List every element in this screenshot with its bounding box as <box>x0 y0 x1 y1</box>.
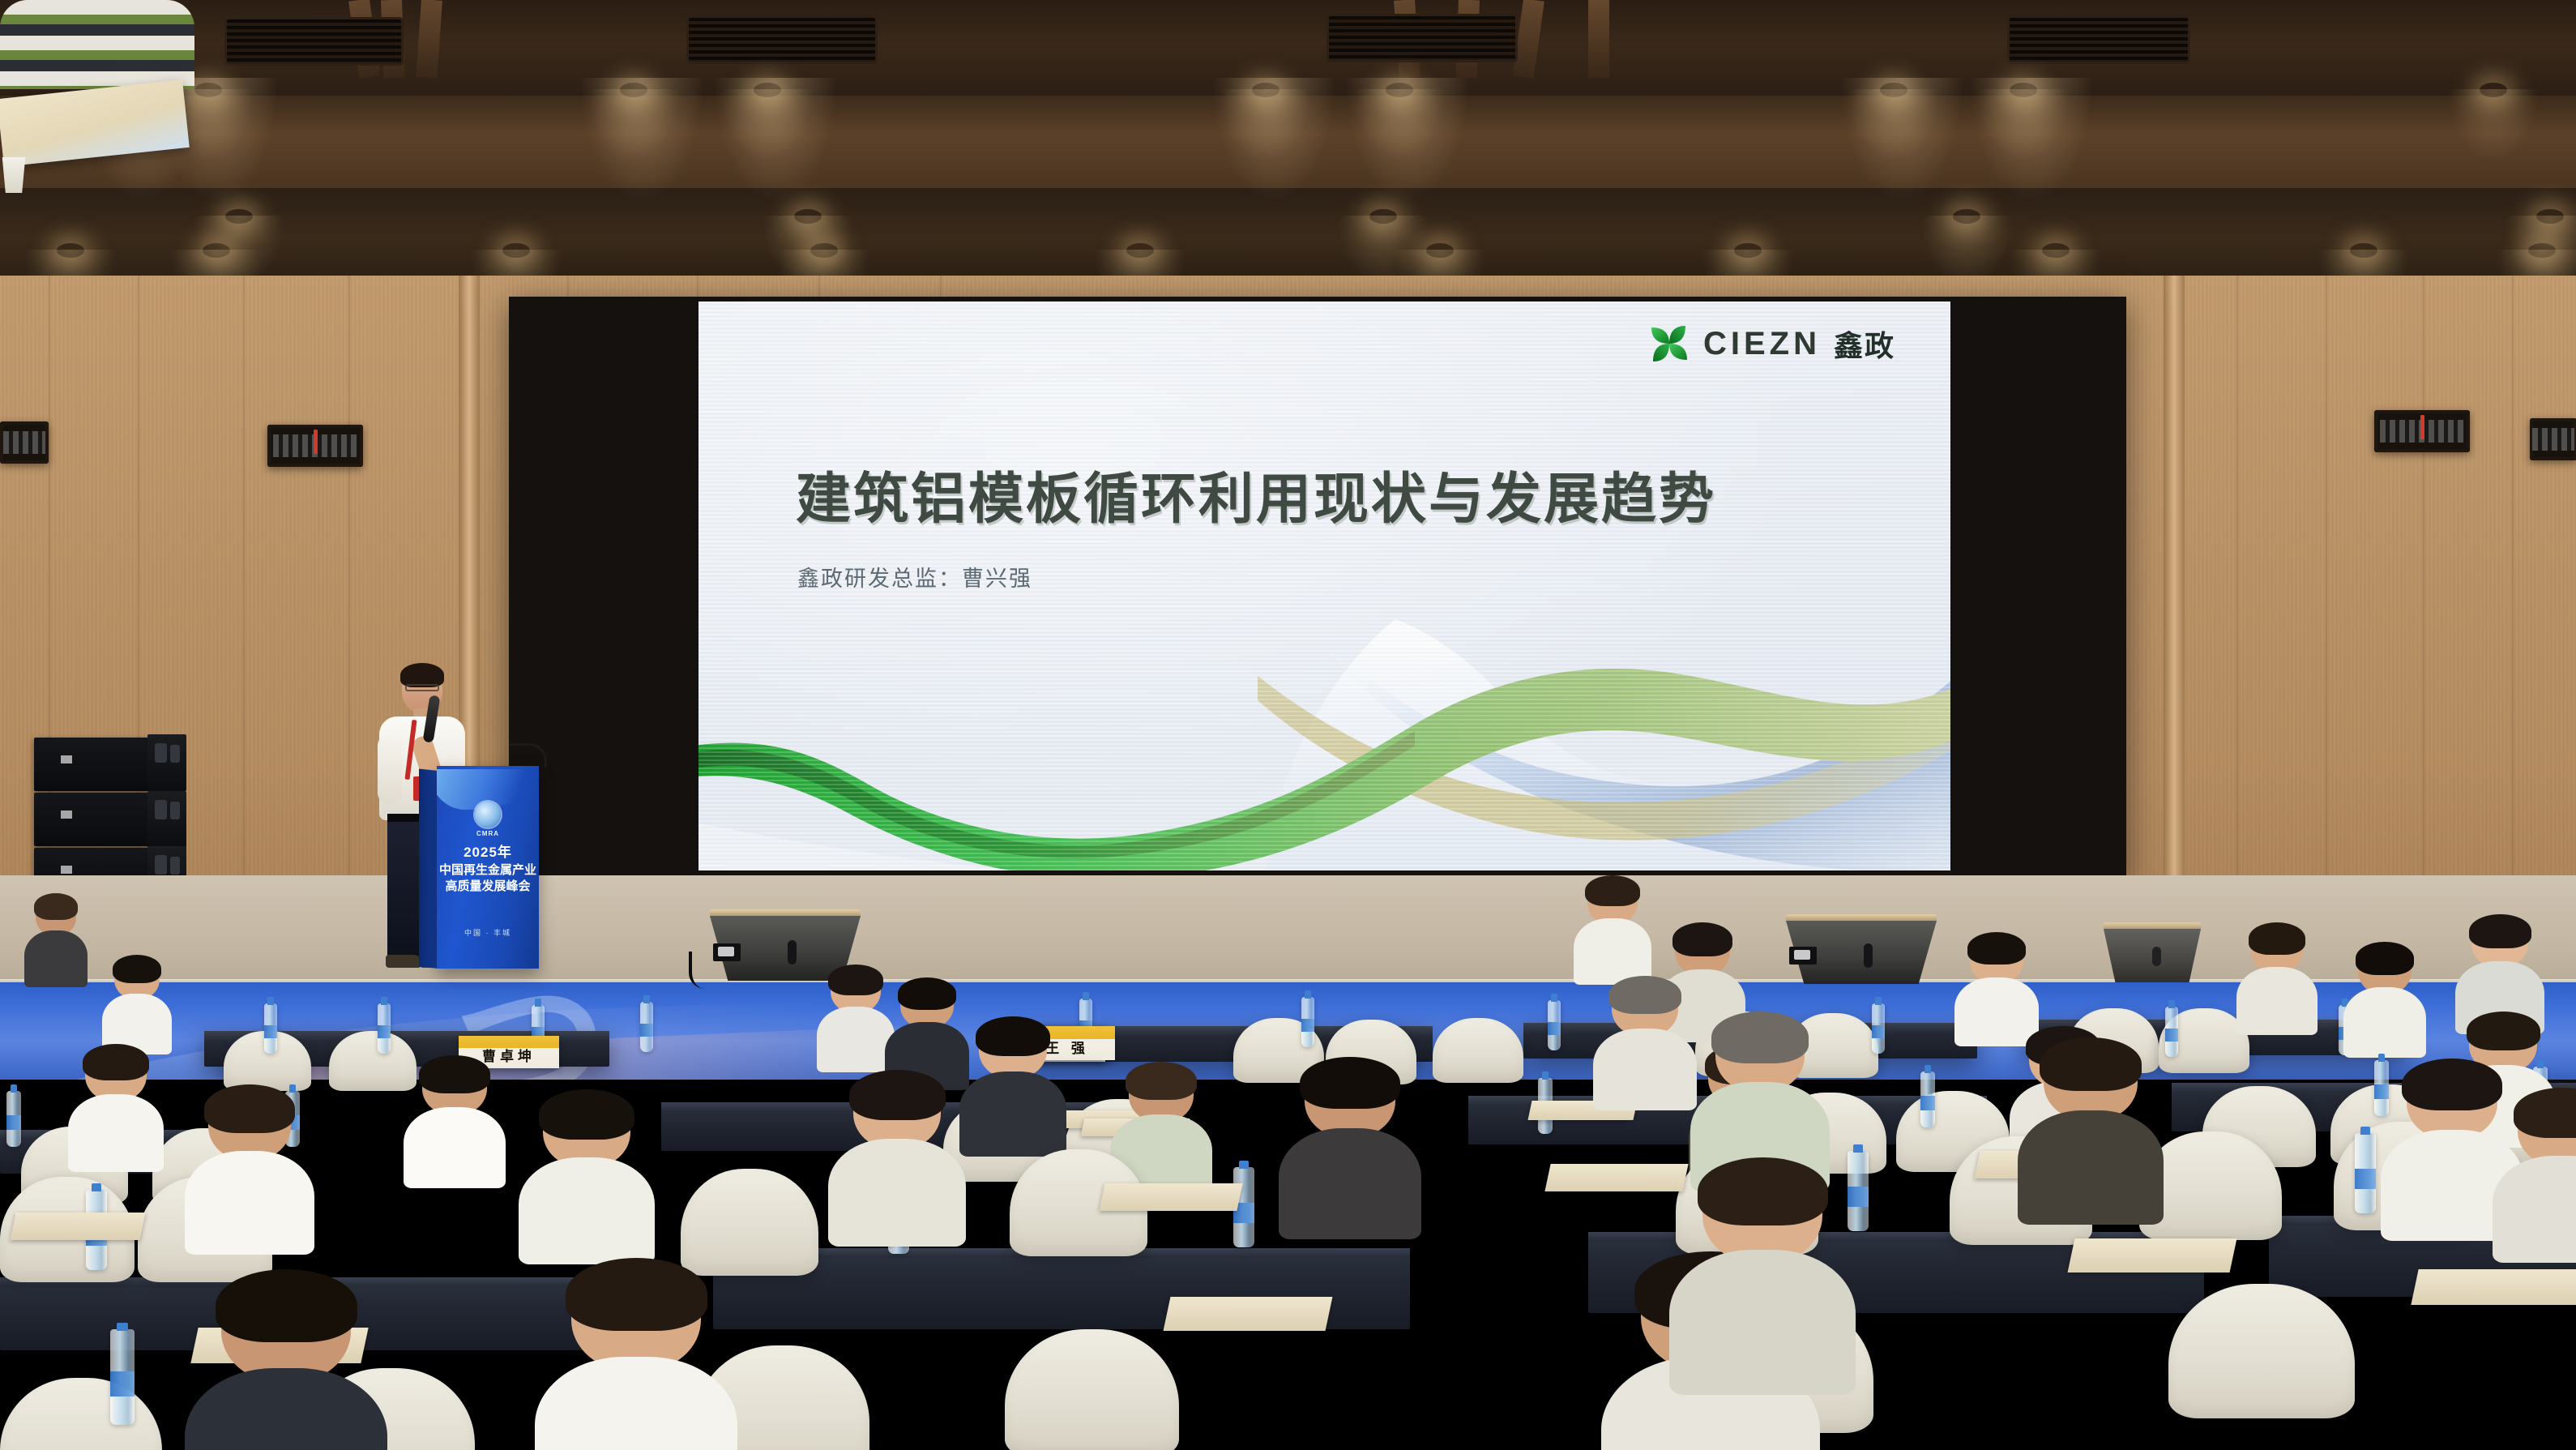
wall-panel-seam <box>2326 276 2327 892</box>
audience-hair <box>2402 1059 2501 1110</box>
audience-torso <box>1593 1029 1697 1110</box>
audience-hair <box>1711 1012 1809 1063</box>
water-bottle <box>110 1329 135 1425</box>
audience-torso <box>519 1157 655 1264</box>
audience-member <box>2236 924 2318 1031</box>
audience-hair <box>1126 1062 1197 1100</box>
ceiling-band <box>0 96 2576 193</box>
ceiling-downlight <box>57 243 84 258</box>
audience-torso <box>185 1151 314 1255</box>
ceiling-downlight <box>620 83 647 97</box>
wall-panel-seam <box>2423 276 2424 892</box>
notepad <box>2068 1238 2237 1272</box>
ceiling-downlight <box>1386 83 1413 97</box>
water-bottle <box>6 1091 21 1147</box>
ceiling-downlight <box>2536 209 2564 224</box>
audience-hair <box>1698 1157 1828 1225</box>
podium-line-2: 高质量发展峰会 <box>437 879 539 895</box>
podium-title-block: 2025年 中国再生金属产业 高质量发展峰会 <box>437 844 539 895</box>
audience-hair <box>2356 942 2413 975</box>
audience-member <box>2343 943 2426 1054</box>
audience-hair <box>2040 1037 2142 1091</box>
audience-chair <box>1433 1018 1523 1083</box>
ceiling-air-grille <box>2010 18 2188 62</box>
podium-year: 2025年 <box>437 844 539 862</box>
ceiling-downlight <box>794 209 822 224</box>
audience-hair <box>1967 932 2027 965</box>
ceiling-downlight <box>1734 243 1762 258</box>
audience-torso <box>2018 1110 2164 1225</box>
wall-pilaster <box>2164 276 2185 892</box>
audience-hair <box>34 893 79 920</box>
presentation-screen[interactable]: CIEZN 鑫政 建筑铝模板循环利用现状与发展趋势 鑫政研发总监：曹兴强 <box>698 302 1950 870</box>
audience-hair <box>1672 922 1732 956</box>
audience-chair <box>2168 1284 2355 1418</box>
speaker-cabinet <box>34 793 157 846</box>
audience-member <box>185 1271 387 1450</box>
podium: CMRA 2025年 中国再生金属产业 高质量发展峰会 中国 · 丰城 <box>419 766 539 969</box>
audience-member <box>1669 1159 1856 1386</box>
podium-front-panel: CMRA 2025年 中国再生金属产业 高质量发展峰会 中国 · 丰城 <box>437 766 539 969</box>
presenter-arm <box>378 734 402 804</box>
water-bottle <box>1548 1000 1561 1050</box>
audience-hair <box>1585 875 1639 906</box>
presenter-shoe <box>386 955 421 968</box>
striped-shirt-pattern <box>0 0 194 89</box>
audience-torso <box>2343 987 2426 1058</box>
audience-chair <box>0 1378 162 1450</box>
audience-torso <box>1574 918 1651 985</box>
wall-panel-seam <box>243 276 245 892</box>
wall-vent <box>0 421 49 464</box>
water-bottle <box>640 1002 653 1052</box>
audience-member <box>404 1057 506 1183</box>
stage-monitor-wedge <box>2104 922 2201 982</box>
pinwheel-leaf-icon <box>1648 323 1690 365</box>
audience-hair <box>898 977 957 1010</box>
stage-monitor-wedge <box>1786 914 1937 984</box>
audience-member <box>1954 934 2039 1042</box>
water-bottle <box>378 1003 391 1054</box>
audience-hair <box>539 1089 634 1140</box>
presenter-glasses <box>405 684 439 691</box>
audience-hair <box>2469 914 2531 948</box>
audience-hair <box>1300 1057 1399 1109</box>
audience-member <box>959 1018 1066 1151</box>
slide-subtitle: 鑫政研发总监：曹兴强 <box>797 561 1032 592</box>
conference-hall-photo: CIEZN 鑫政 建筑铝模板循环利用现状与发展趋势 鑫政研发总监：曹兴强 <box>0 0 2576 1450</box>
audience-torso <box>68 1094 164 1172</box>
ceiling-downlight <box>1953 209 1980 224</box>
audience-torso <box>828 1139 966 1247</box>
audience-torso <box>404 1107 506 1188</box>
ceiling-downlight <box>1252 83 1279 97</box>
audience-torso <box>535 1357 737 1450</box>
audience-hair <box>419 1055 490 1093</box>
speaker-front-face <box>147 791 186 848</box>
ceiling-downlight <box>2350 243 2377 258</box>
ceiling-air-grille <box>227 19 401 63</box>
wall-panel-seam <box>348 276 350 892</box>
audience-hair <box>2249 922 2305 955</box>
wall-vent <box>2530 418 2576 460</box>
audience-torso <box>2493 1156 2576 1263</box>
audience-member <box>519 1091 655 1258</box>
slide-brand-logo: CIEZN 鑫政 <box>1648 323 1895 365</box>
notepad <box>10 1213 145 1240</box>
ceiling-downlight <box>502 243 530 258</box>
audience-hair <box>849 1070 946 1120</box>
audience-torso <box>24 930 88 987</box>
ceiling-downlight <box>2010 83 2037 97</box>
podium-line-1: 中国再生金属产业 <box>437 862 539 879</box>
audience-member <box>1574 877 1651 981</box>
audience-hair <box>204 1084 295 1133</box>
wall-panel-seam <box>2236 276 2238 892</box>
audience-member <box>68 1046 164 1167</box>
audience-torso <box>185 1368 387 1450</box>
audience-member <box>185 1086 314 1248</box>
audience-hair <box>83 1044 150 1080</box>
wall-panel-seam <box>2512 276 2514 892</box>
ceiling-downlight <box>225 209 253 224</box>
audience-member <box>24 895 88 984</box>
wall-vent <box>2374 410 2470 452</box>
audience-hair <box>1608 976 1681 1014</box>
podium-footer-location: 中国 · 丰城 <box>437 927 539 938</box>
ceiling-downlight <box>203 243 230 258</box>
audience-hair <box>976 1016 1050 1056</box>
audience-member <box>102 956 172 1050</box>
audience-torso <box>959 1071 1066 1157</box>
ceiling-downlight <box>1426 243 1454 258</box>
wall-pilaster <box>2139 276 2157 892</box>
ceiling-downlight <box>2042 243 2070 258</box>
audience-member <box>2493 1089 2576 1256</box>
audience-member <box>535 1260 737 1450</box>
water-bottle <box>2165 1007 2178 1057</box>
ceiling-downlight <box>754 83 781 97</box>
ceiling-downlight <box>2480 83 2507 97</box>
slide-wave-graphic <box>698 611 1950 870</box>
audience-hair <box>113 955 161 983</box>
audience-member <box>2018 1039 2164 1217</box>
speaker-front-face <box>147 734 186 791</box>
ceiling-downlight <box>1126 243 1154 258</box>
water-bottle <box>1920 1071 1935 1127</box>
audience-torso <box>817 1007 895 1072</box>
notepad <box>1544 1164 1688 1191</box>
water-bottle <box>2355 1133 2376 1213</box>
ceiling-downlight <box>1880 83 1907 97</box>
notepad <box>2411 1269 2576 1305</box>
slide-logo-latin: CIEZN <box>1703 326 1821 362</box>
cmra-emblem-icon: CMRA <box>475 802 501 828</box>
ceiling-soffit <box>0 188 2576 279</box>
audience-hair <box>566 1258 707 1331</box>
wall-vent <box>267 425 363 467</box>
water-bottle <box>264 1003 277 1054</box>
ceiling-downlight <box>810 243 838 258</box>
audience-hair <box>216 1269 357 1342</box>
notepad <box>1164 1297 1333 1331</box>
ceiling-downlight <box>2528 243 2556 258</box>
podium-side-panel <box>419 768 438 969</box>
audience-member <box>1593 977 1697 1106</box>
slide-logo-chinese: 鑫政 <box>1834 323 1895 365</box>
speaker-cabinet <box>34 738 157 791</box>
audience-member <box>1279 1059 1421 1232</box>
ceiling-air-grille <box>689 18 875 62</box>
notepad <box>1099 1183 1242 1211</box>
ceiling-downlight <box>194 83 222 97</box>
audience-hair <box>2467 1012 2540 1050</box>
water-bottle <box>1301 997 1314 1047</box>
ceiling-downlight <box>1369 209 1397 224</box>
audience-member <box>817 966 895 1068</box>
audience-hair <box>828 965 882 995</box>
audience-chair <box>1005 1329 1179 1450</box>
ceiling-slat <box>1588 0 1609 78</box>
audience-member <box>828 1071 966 1240</box>
slide-title: 建筑铝模板循环利用现状与发展趋势 <box>796 454 1716 534</box>
audience-torso <box>1279 1128 1421 1239</box>
ceiling-air-grille <box>1329 16 1515 60</box>
audience-torso <box>1669 1250 1856 1395</box>
cmra-emblem-label: CMRA <box>476 830 499 837</box>
water-bottle <box>1872 1003 1885 1054</box>
audience-torso <box>2236 967 2318 1035</box>
audience-hair <box>2514 1088 2576 1138</box>
